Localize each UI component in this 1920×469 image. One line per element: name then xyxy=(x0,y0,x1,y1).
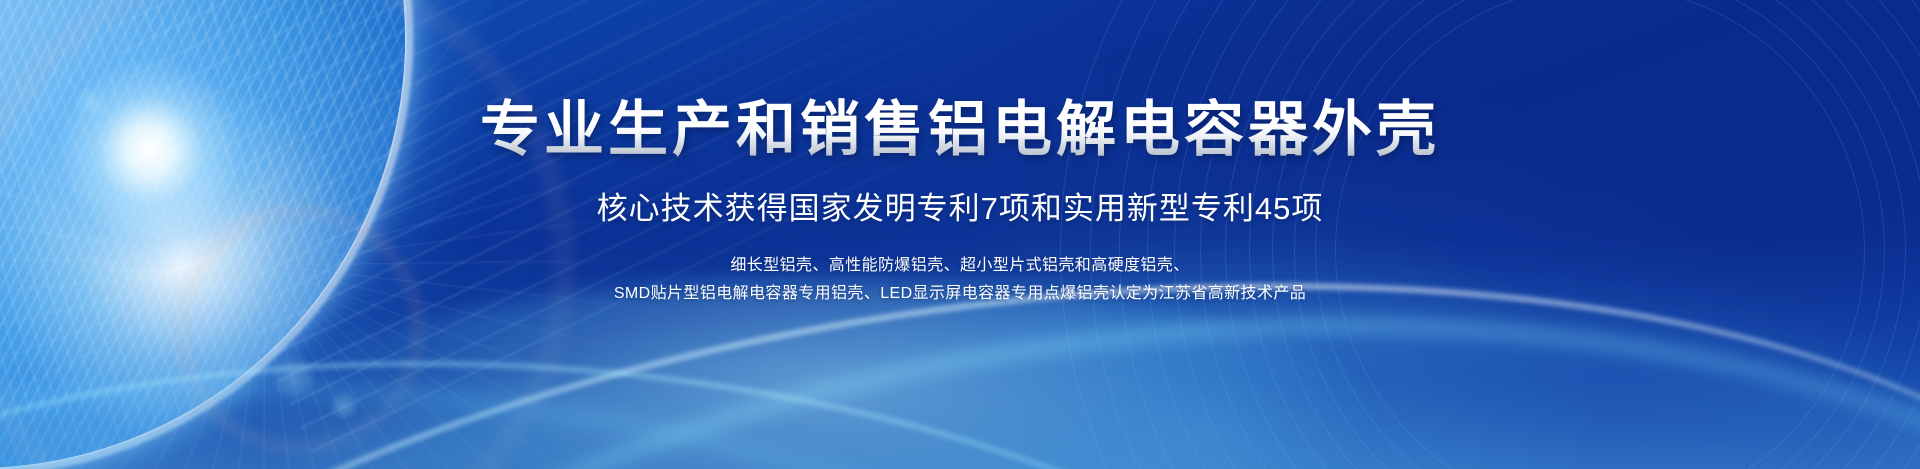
description-line-1: 细长型铝壳、高性能防爆铝壳、超小型片式铝壳和高硬度铝壳、 xyxy=(614,253,1306,279)
hero-banner: 专业生产和销售铝电解电容器外壳 核心技术获得国家发明专利7项和实用新型专利45项… xyxy=(0,0,1920,469)
banner-content: 专业生产和销售铝电解电容器外壳 核心技术获得国家发明专利7项和实用新型专利45项… xyxy=(0,0,1920,469)
banner-description: 细长型铝壳、高性能防爆铝壳、超小型片式铝壳和高硬度铝壳、 SMD贴片型铝电解电容… xyxy=(614,253,1306,307)
description-line-2: SMD贴片型铝电解电容器专用铝壳、LED显示屏电容器专用点爆铝壳认定为江苏省高新… xyxy=(614,281,1306,307)
banner-headline: 专业生产和销售铝电解电容器外壳 xyxy=(480,98,1440,161)
banner-subheadline: 核心技术获得国家发明专利7项和实用新型专利45项 xyxy=(597,183,1324,228)
